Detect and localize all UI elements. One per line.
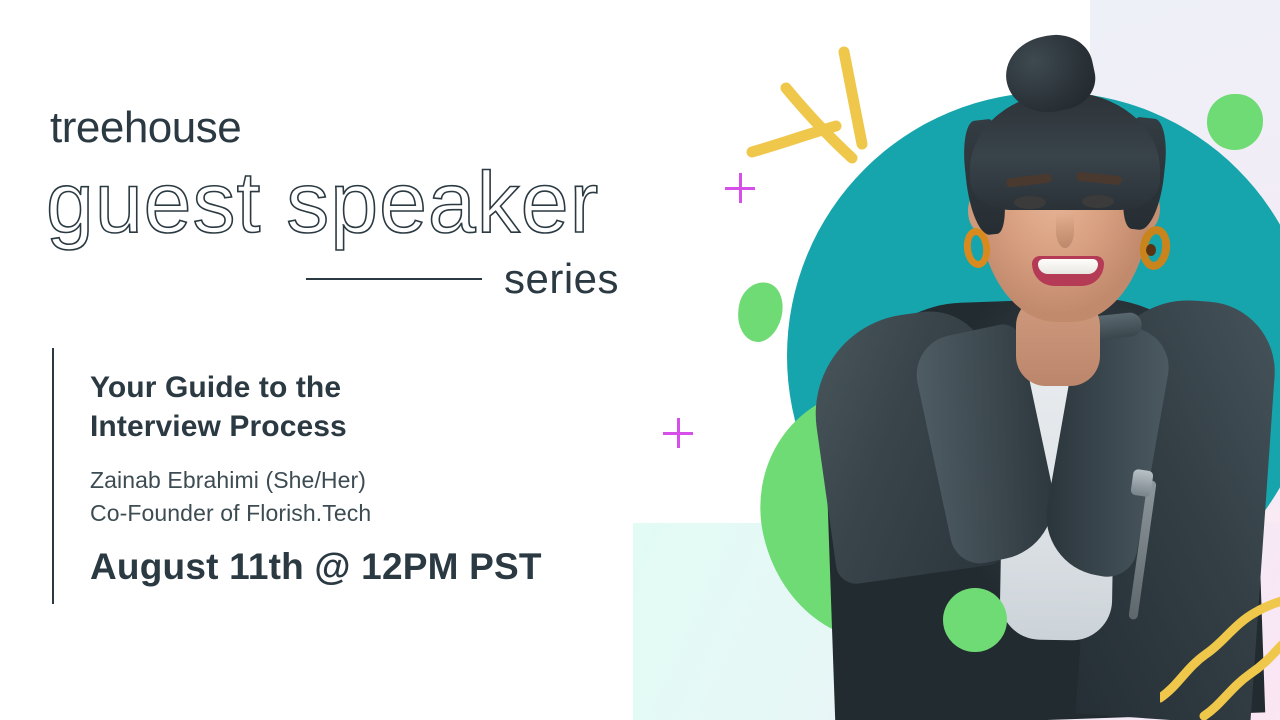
speaker-name: Zainab Ebrahimi (She/Her) — [90, 464, 610, 497]
talk-title-line-1: Your Guide to the — [90, 368, 610, 407]
squiggle-lines-icon — [1160, 590, 1280, 720]
plus-icon-upper — [725, 173, 755, 203]
talk-details: Your Guide to the Interview Process Zain… — [90, 368, 610, 588]
green-dot-bottom — [943, 588, 1007, 652]
promo-slide: treehouse guest speaker series Your Guid… — [0, 0, 1280, 720]
headline-guest-speaker: guest speaker — [46, 158, 599, 248]
event-date-time: August 11th @ 12PM PST — [90, 547, 610, 588]
series-divider-rule — [306, 278, 482, 280]
green-blob-small — [731, 278, 788, 347]
talk-title-line-2: Interview Process — [90, 407, 610, 446]
plus-icon-lower — [663, 418, 693, 448]
series-row: series — [306, 258, 626, 300]
treehouse-wordmark: treehouse — [50, 106, 241, 150]
speaker-role: Co-Founder of Florish.Tech — [90, 497, 610, 530]
vertical-accent-bar — [52, 348, 54, 604]
series-label: series — [504, 258, 619, 300]
